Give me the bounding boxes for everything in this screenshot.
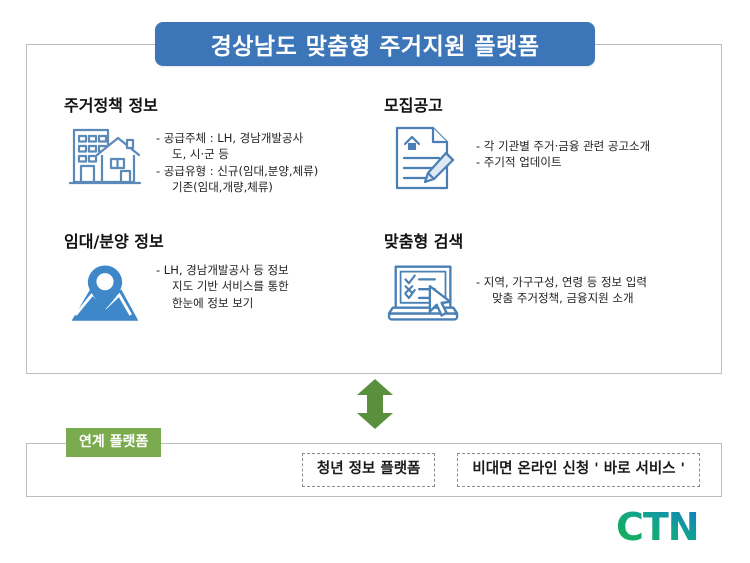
section-line: - 공급주체 : LH, 경남개발공사 — [156, 130, 318, 146]
section-lines-rent-sale-info: - LH, 경남개발공사 등 정보 지도 기반 서비스를 통한 한눈에 정보 보… — [156, 258, 289, 311]
linked-platform-badge: 연계 플랫폼 — [66, 428, 161, 457]
section-line: 기존(임대,개량,체류) — [156, 179, 318, 195]
section-line: - LH, 경남개발공사 등 정보 — [156, 262, 289, 278]
double-arrow-up-down-icon — [356, 378, 394, 430]
section-title-recruitment-notice: 모집공고 — [384, 92, 712, 116]
section-custom-search: 맞춤형 검색 — [374, 228, 712, 364]
section-body-housing-policy: - 공급주체 : LH, 경남개발공사 도, 시·군 등 - 공급유형 : 신규… — [64, 122, 374, 196]
section-line: 한눈에 정보 보기 — [156, 295, 289, 311]
section-body-custom-search: - 지역, 가구구성, 연령 등 정보 입력 맞춤 주거정책, 금융지원 소개 — [384, 258, 712, 332]
section-body-recruitment-notice: - 각 기관별 주거·금융 관련 공고소개 - 주기적 업데이트 — [384, 122, 712, 196]
section-recruitment-notice: 모집공고 — [374, 92, 712, 228]
section-housing-policy: 주거정책 정보 — [36, 92, 374, 228]
section-line: 도, 시·군 등 — [156, 146, 318, 162]
section-title-housing-policy: 주거정책 정보 — [64, 92, 374, 116]
linked-platform-item-online-service[interactable]: 비대면 온라인 신청 ' 바로 서비스 ' — [457, 453, 700, 487]
section-line: 맞춤 주거정책, 금융지원 소개 — [476, 290, 647, 306]
section-line: - 지역, 가구구성, 연령 등 정보 입력 — [476, 274, 647, 290]
linked-platform-item-youth[interactable]: 청년 정보 플랫폼 — [302, 453, 435, 487]
section-line: - 각 기관별 주거·금융 관련 공고소개 — [476, 138, 650, 154]
section-title-rent-sale-info: 임대/분양 정보 — [64, 228, 374, 252]
section-line: - 주기적 업데이트 — [476, 154, 650, 170]
section-lines-custom-search: - 지역, 가구구성, 연령 등 정보 입력 맞춤 주거정책, 금융지원 소개 — [476, 258, 647, 307]
ctn-logo-text: CTN — [616, 507, 699, 549]
laptop-checklist-icon — [384, 258, 466, 332]
section-line: 지도 기반 서비스를 통한 — [156, 278, 289, 294]
section-body-rent-sale-info: - LH, 경남개발공사 등 정보 지도 기반 서비스를 통한 한눈에 정보 보… — [64, 258, 374, 332]
section-lines-housing-policy: - 공급주체 : LH, 경남개발공사 도, 시·군 등 - 공급유형 : 신규… — [156, 122, 318, 195]
document-pencil-icon — [384, 122, 466, 196]
page-title: 경상남도 맞춤형 주거지원 플랫폼 — [211, 27, 540, 61]
section-line: - 공급유형 : 신규(임대,분양,체류) — [156, 163, 318, 179]
section-lines-recruitment-notice: - 각 기관별 주거·금융 관련 공고소개 - 주기적 업데이트 — [476, 122, 650, 171]
ctn-logo: CTN — [616, 507, 726, 549]
section-title-custom-search: 맞춤형 검색 — [384, 228, 712, 252]
page-title-banner: 경상남도 맞춤형 주거지원 플랫폼 — [155, 22, 595, 66]
map-pin-icon — [64, 258, 146, 332]
apartment-house-icon — [64, 122, 146, 196]
section-rent-sale-info: 임대/분양 정보 - LH, 경남개발공사 등 정보 지도 기반 서비스를 통한… — [36, 228, 374, 364]
feature-grid: 주거정책 정보 — [26, 44, 722, 374]
